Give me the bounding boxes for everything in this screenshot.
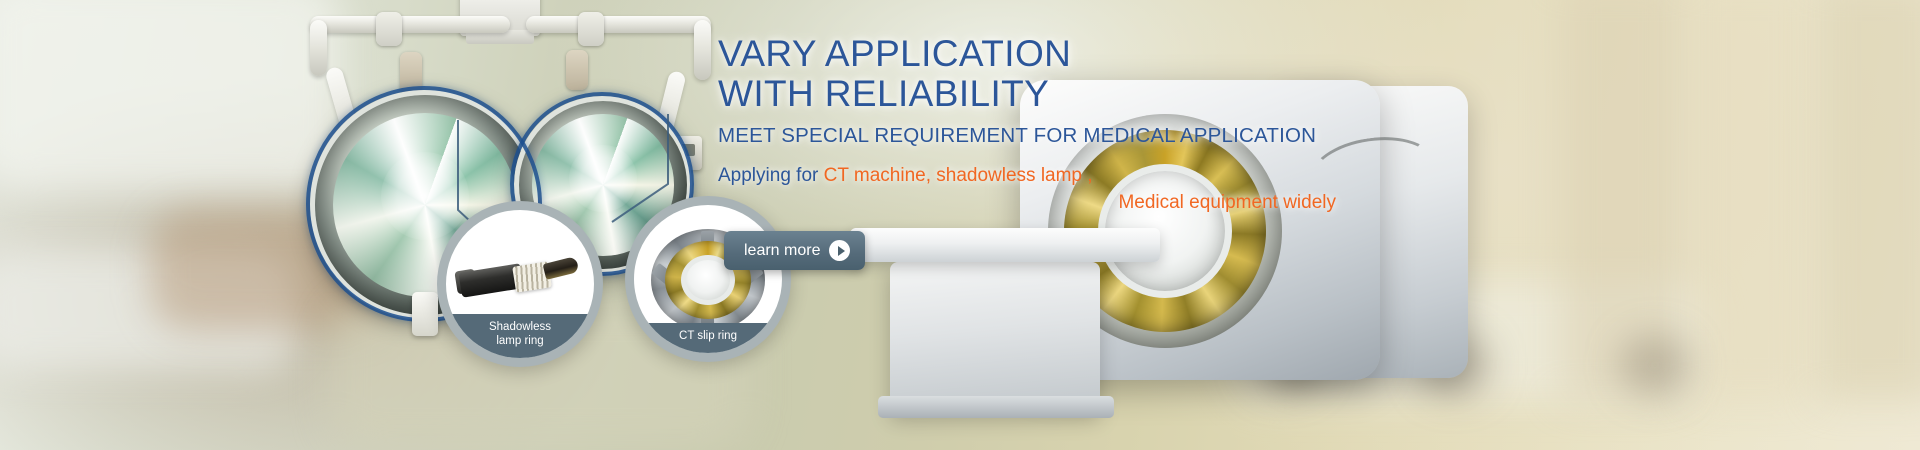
callout-shadowless-lamp-ring[interactable]: Shadowless lamp ring (437, 201, 603, 367)
banner-copy: VARY APPLICATION WITH RELIABILITY MEET S… (718, 34, 1338, 216)
shadowless-lamp-ring-product-photo (460, 258, 576, 302)
headline-line-2: WITH RELIABILITY (718, 74, 1338, 114)
learn-more-button[interactable]: learn more (724, 231, 865, 270)
tagline-lead: Applying for (718, 165, 824, 186)
tagline-highlight-1: CT machine, shadowless lamp , (824, 165, 1093, 186)
background-curtain-b-blur (1690, 0, 1810, 400)
product-cable-tail (543, 256, 580, 280)
background-curtain-c-blur (1820, 0, 1920, 400)
lamp-arm-horizontal-left (310, 16, 510, 33)
callout-label-shadowless: Shadowless lamp ring (446, 314, 594, 358)
lamp-arm-horizontal-right (526, 16, 711, 33)
background-bed-left-blur (0, 250, 300, 370)
headline-line-1: VARY APPLICATION (718, 34, 1338, 74)
lamp-joint-b (578, 12, 604, 46)
lamp-sterile-handle (412, 292, 438, 336)
lamp-arm-vertical-left (310, 20, 327, 76)
ct-table-base (890, 262, 1100, 412)
callout-ct-slip-ring[interactable]: CT slip ring (625, 196, 791, 362)
lamp-joint-d (566, 50, 588, 90)
tagline: Applying for CT machine, shadowless lamp… (718, 162, 1338, 216)
lamp-joint-a (376, 12, 402, 46)
callout-label-line1: CT slip ring (679, 330, 737, 342)
subheadline: MEET SPECIAL REQUIREMENT FOR MEDICAL APP… (718, 123, 1338, 149)
callout-label-line1: Shadowless (489, 321, 551, 333)
background-wall-blur (0, 0, 340, 190)
play-arrow-icon (829, 240, 850, 261)
lamp-arm-vertical-right (694, 20, 711, 80)
ct-table-foot (878, 396, 1114, 418)
tagline-highlight-2: Medical equipment widely (718, 189, 1338, 216)
learn-more-label: learn more (744, 242, 820, 260)
ct-patient-table (850, 228, 1160, 262)
promo-banner: Shadowless lamp ring CT slip ring VARY A… (0, 0, 1920, 450)
callout-label-line2: lamp ring (496, 335, 543, 347)
callout-label-ct-slip-ring: CT slip ring (634, 323, 782, 353)
